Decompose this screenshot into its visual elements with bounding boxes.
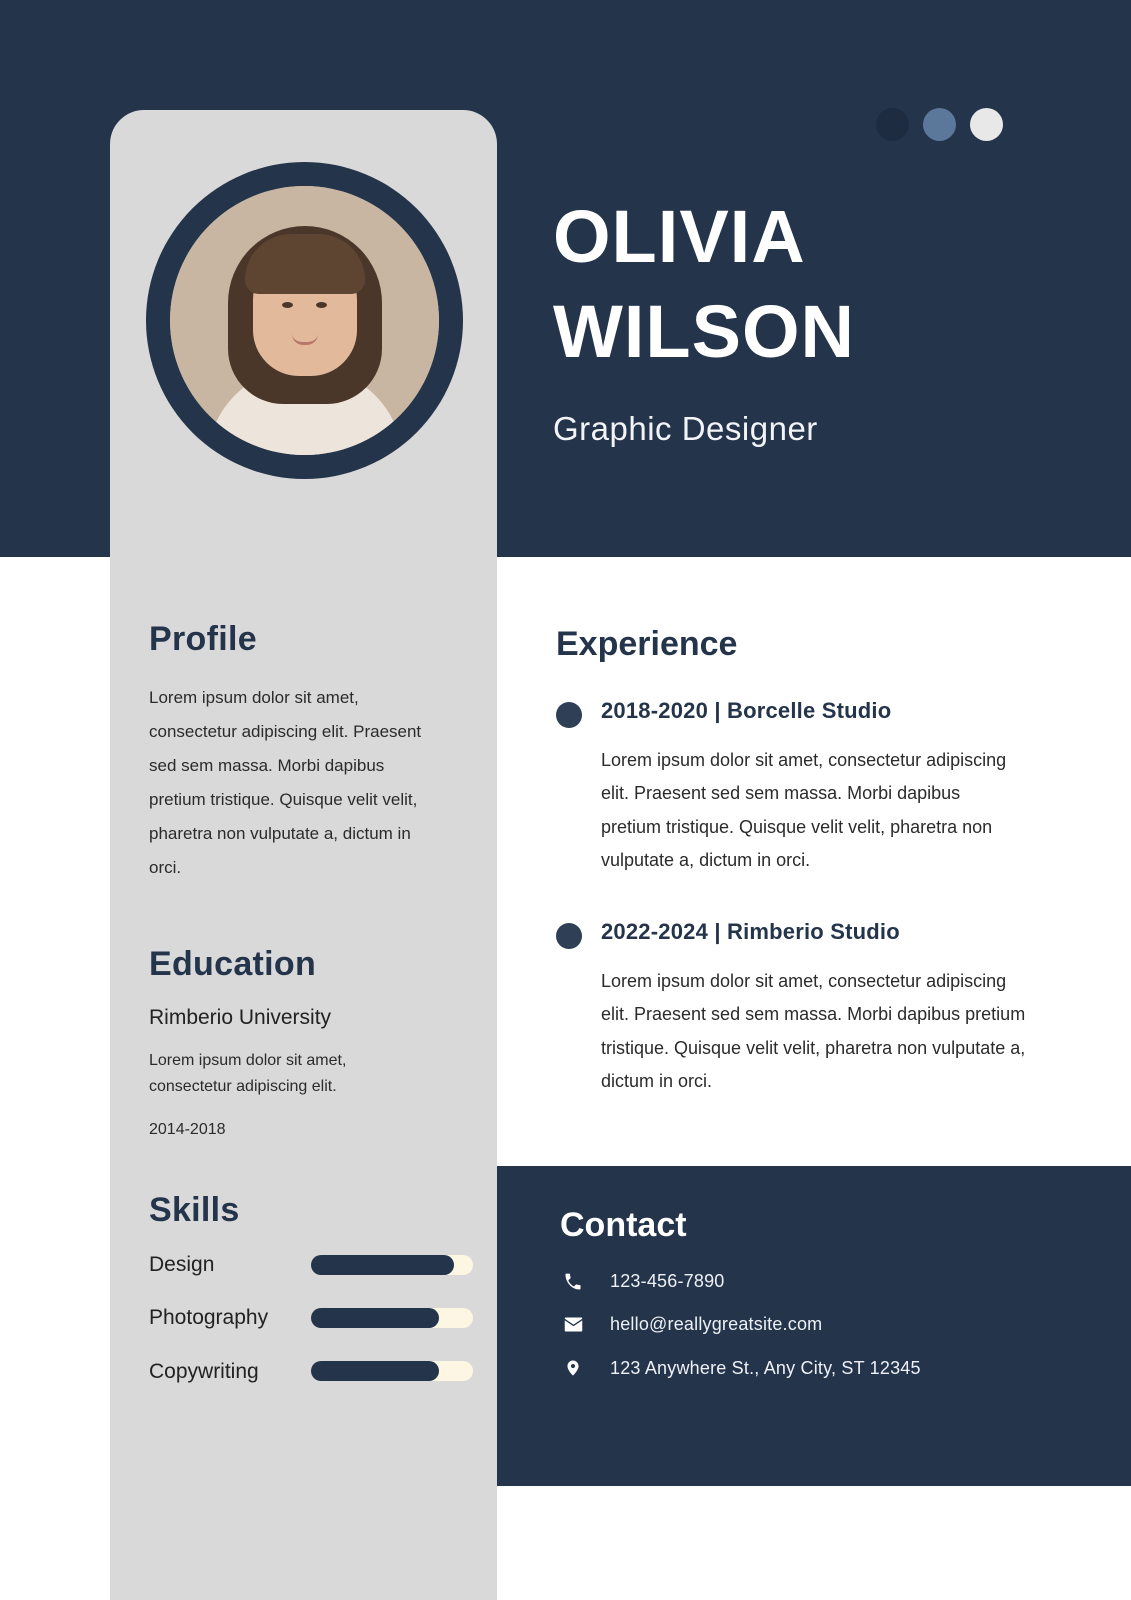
dot-dark-icon <box>876 108 909 141</box>
education-section: Education Rimberio University Lorem ipsu… <box>149 945 479 1139</box>
experience-heading: Experience <box>556 625 1036 664</box>
skill-progress-fill <box>311 1308 439 1328</box>
profile-section: Profile Lorem ipsum dolor sit amet, cons… <box>149 620 479 885</box>
skill-row: Photography <box>149 1305 479 1330</box>
skills-heading: Skills <box>149 1191 479 1230</box>
contact-email-row[interactable]: hello@reallygreatsite.com <box>560 1314 921 1335</box>
skill-progress-track <box>311 1255 473 1275</box>
skill-progress-fill <box>311 1255 454 1275</box>
profile-body: Lorem ipsum dolor sit amet, consectetur … <box>149 681 425 885</box>
education-school: Rimberio University <box>149 1006 479 1030</box>
experience-item-title: 2018-2020 | Borcelle Studio <box>601 698 1036 724</box>
experience-item-title: 2022-2024 | Rimberio Studio <box>601 919 1036 945</box>
education-heading: Education <box>149 945 479 984</box>
experience-item: 2022-2024 | Rimberio Studio Lorem ipsum … <box>556 919 1036 1098</box>
contact-phone-row[interactable]: 123-456-7890 <box>560 1271 921 1292</box>
bullet-icon <box>556 702 582 728</box>
skill-progress-track <box>311 1361 473 1381</box>
experience-item-description: Lorem ipsum dolor sit amet, consectetur … <box>601 965 1031 1098</box>
skill-row: Copywriting <box>149 1359 479 1384</box>
contact-phone-value: 123-456-7890 <box>610 1271 725 1292</box>
experience-item: 2018-2020 | Borcelle Studio Lorem ipsum … <box>556 698 1036 877</box>
contact-email-value: hello@reallygreatsite.com <box>610 1314 822 1335</box>
contact-address-row[interactable]: 123 Anywhere St., Any City, ST 12345 <box>560 1357 921 1379</box>
experience-item-description: Lorem ipsum dolor sit amet, consectetur … <box>601 744 1021 877</box>
decorative-dots <box>876 108 1003 141</box>
skill-row: Design <box>149 1252 479 1277</box>
contact-address-value: 123 Anywhere St., Any City, ST 12345 <box>610 1358 921 1379</box>
avatar-photo <box>170 186 439 455</box>
avatar <box>146 162 463 479</box>
skills-section: Skills Design Photography Copywriting <box>149 1191 479 1384</box>
skill-label: Design <box>149 1252 299 1277</box>
job-title: Graphic Designer <box>553 410 818 448</box>
contact-list: 123-456-7890 hello@reallygreatsite.com 1… <box>560 1271 921 1401</box>
page-title: OLIVIA WILSON <box>553 190 1073 379</box>
phone-icon <box>560 1272 586 1292</box>
skill-label: Copywriting <box>149 1359 299 1384</box>
last-name: WILSON <box>553 285 1073 380</box>
profile-heading: Profile <box>149 620 479 659</box>
location-icon <box>560 1357 586 1379</box>
skill-progress-fill <box>311 1361 439 1381</box>
contact-section: Contact 123-456-7890 hello@reallygreatsi… <box>497 1166 1131 1486</box>
experience-section: Experience 2018-2020 | Borcelle Studio L… <box>556 625 1036 1140</box>
sidebar-content: Profile Lorem ipsum dolor sit amet, cons… <box>149 620 479 1412</box>
education-description: Lorem ipsum dolor sit amet, consectetur … <box>149 1048 399 1099</box>
skill-label: Photography <box>149 1305 299 1330</box>
contact-heading: Contact <box>560 1206 687 1245</box>
education-years: 2014-2018 <box>149 1121 479 1139</box>
bullet-icon <box>556 923 582 949</box>
dot-light-icon <box>970 108 1003 141</box>
dot-blue-icon <box>923 108 956 141</box>
first-name: OLIVIA <box>553 190 1073 285</box>
email-icon <box>560 1314 586 1335</box>
skill-progress-track <box>311 1308 473 1328</box>
